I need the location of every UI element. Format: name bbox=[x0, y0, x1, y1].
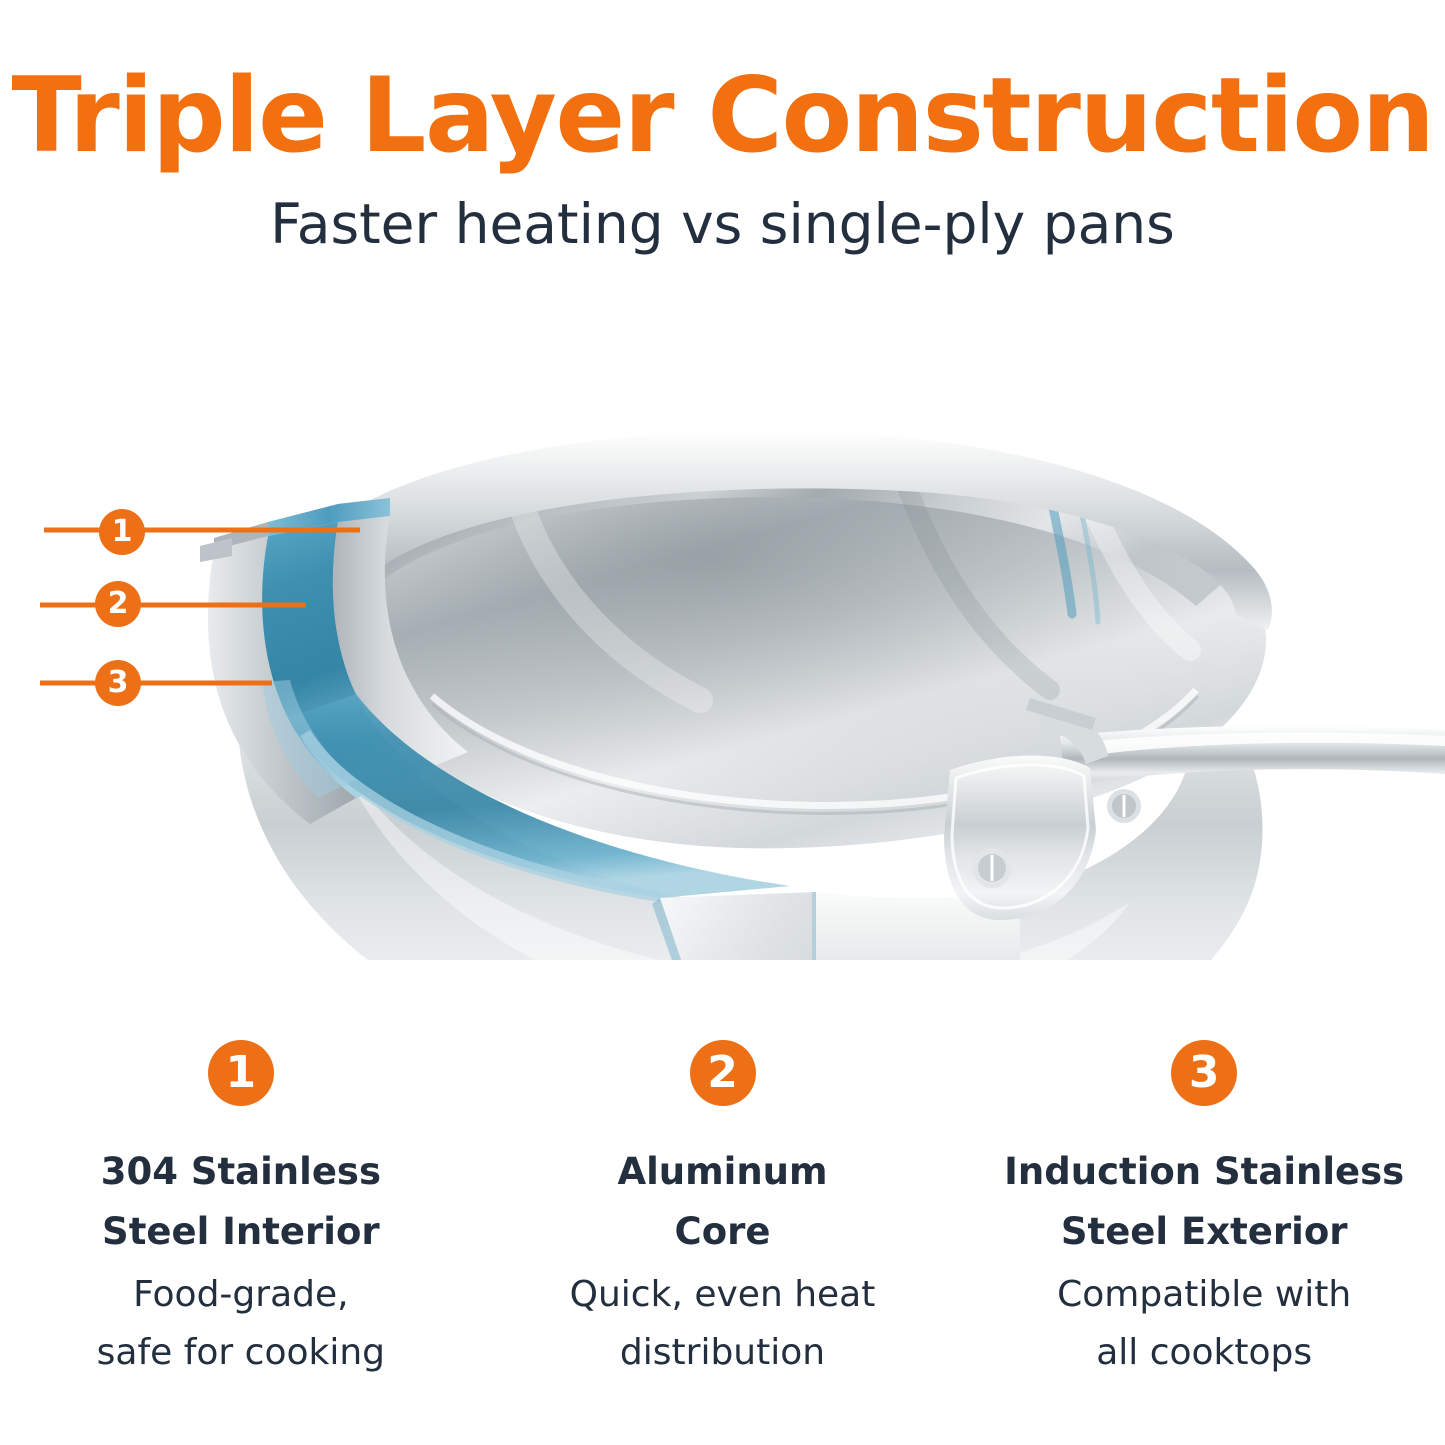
callout-badge-2: 2 bbox=[95, 581, 141, 627]
feature-column-1: 1 304 Stainless Steel Interior Food-grad… bbox=[0, 1040, 482, 1383]
feature-desc-2: Quick, even heat distribution bbox=[504, 1266, 942, 1383]
feature-desc-3: Compatible with all cooktops bbox=[985, 1266, 1423, 1383]
callout-badge-3: 3 bbox=[95, 660, 141, 706]
feature-badge-3: 3 bbox=[1171, 1040, 1237, 1106]
feature-desc-line: distribution bbox=[504, 1324, 942, 1382]
pan-illustration-svg bbox=[0, 400, 1445, 960]
handle-rivet-upper bbox=[1107, 789, 1141, 823]
infographic-page: Triple Layer Construction Faster heating… bbox=[0, 0, 1445, 1445]
page-subtitle: Faster heating vs single-ply pans bbox=[0, 170, 1445, 255]
handle-rivet-lower bbox=[972, 848, 1012, 888]
feature-title-line: Steel Interior bbox=[22, 1202, 460, 1262]
feature-desc-line: all cooktops bbox=[985, 1324, 1423, 1382]
feature-title-line: Steel Exterior bbox=[985, 1202, 1423, 1262]
page-title: Triple Layer Construction bbox=[0, 0, 1445, 170]
feature-badge-2: 2 bbox=[690, 1040, 756, 1106]
header: Triple Layer Construction Faster heating… bbox=[0, 0, 1445, 255]
feature-title-line: Induction Stainless bbox=[985, 1142, 1423, 1202]
feature-title-line: Aluminum bbox=[504, 1142, 942, 1202]
feature-column-3: 3 Induction Stainless Steel Exterior Com… bbox=[963, 1040, 1445, 1383]
feature-title-line: Core bbox=[504, 1202, 942, 1262]
feature-title-2: Aluminum Core bbox=[504, 1142, 942, 1262]
feature-columns: 1 304 Stainless Steel Interior Food-grad… bbox=[0, 1040, 1445, 1383]
feature-column-2: 2 Aluminum Core Quick, even heat distrib… bbox=[482, 1040, 964, 1383]
feature-title-line: 304 Stainless bbox=[22, 1142, 460, 1202]
feature-desc-line: Quick, even heat bbox=[504, 1266, 942, 1324]
feature-desc-line: Food-grade, bbox=[22, 1266, 460, 1324]
feature-badge-1: 1 bbox=[208, 1040, 274, 1106]
callout-badge-1: 1 bbox=[99, 509, 145, 555]
pan-cutaway-illustration bbox=[0, 400, 1445, 960]
feature-desc-line: Compatible with bbox=[985, 1266, 1423, 1324]
feature-title-3: Induction Stainless Steel Exterior bbox=[985, 1142, 1423, 1262]
feature-desc-line: safe for cooking bbox=[22, 1324, 460, 1382]
feature-title-1: 304 Stainless Steel Interior bbox=[22, 1142, 460, 1262]
feature-desc-1: Food-grade, safe for cooking bbox=[22, 1266, 460, 1383]
